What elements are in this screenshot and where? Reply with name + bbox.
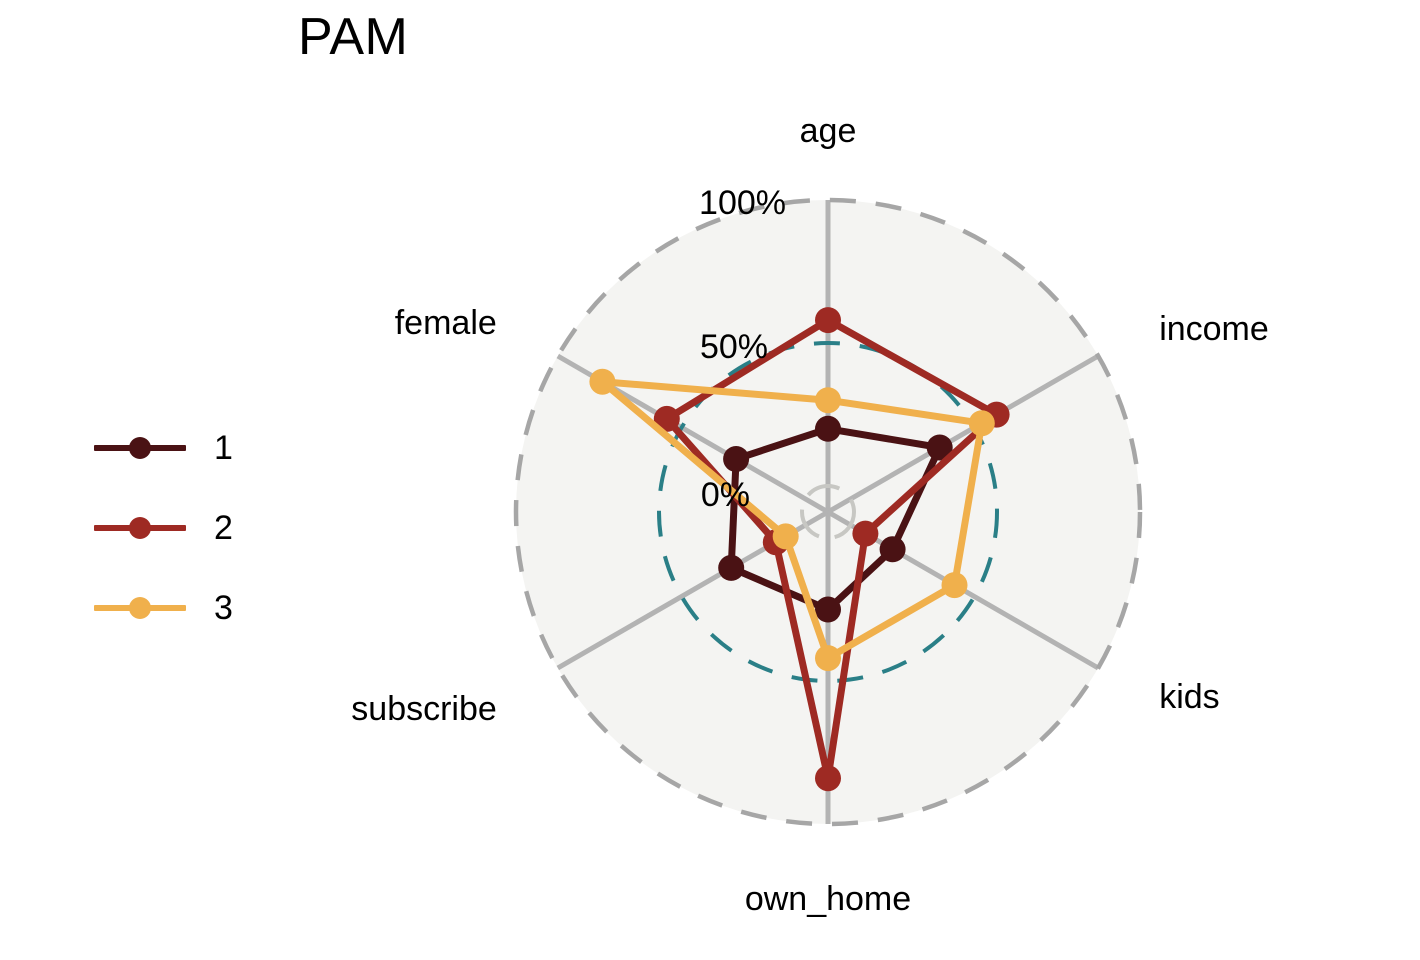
legend: 123 bbox=[92, 408, 272, 648]
data-point-1-own_home bbox=[815, 597, 841, 623]
data-point-2-own_home bbox=[815, 765, 841, 791]
axis-label-income: income bbox=[1159, 310, 1269, 348]
data-point-2-kids bbox=[852, 521, 878, 547]
legend-dot-icon bbox=[129, 437, 151, 459]
data-point-3-own_home bbox=[815, 645, 841, 671]
data-point-3-female bbox=[589, 369, 615, 395]
legend-item-2[interactable]: 2 bbox=[92, 488, 272, 568]
legend-dot-icon bbox=[129, 517, 151, 539]
data-point-1-kids bbox=[880, 536, 906, 562]
legend-key-3 bbox=[92, 588, 188, 628]
radial-tick-label-0: 0% bbox=[701, 476, 750, 514]
data-point-1-subscribe bbox=[718, 555, 744, 581]
data-point-3-kids bbox=[942, 572, 968, 598]
radial-tick-label-100: 100% bbox=[699, 184, 786, 222]
data-point-3-subscribe bbox=[773, 523, 799, 549]
legend-dot-icon bbox=[129, 597, 151, 619]
legend-label: 2 bbox=[188, 511, 233, 545]
data-point-3-income bbox=[969, 410, 995, 436]
legend-label: 1 bbox=[188, 431, 233, 465]
data-point-1-female bbox=[723, 446, 749, 472]
data-point-1-age bbox=[815, 416, 841, 442]
axis-label-own_home: own_home bbox=[745, 880, 911, 918]
data-point-3-age bbox=[815, 387, 841, 413]
axis-label-kids: kids bbox=[1159, 678, 1219, 716]
radial-tick-label-50: 50% bbox=[700, 328, 768, 366]
axis-label-female: female bbox=[395, 304, 497, 342]
legend-item-1[interactable]: 1 bbox=[92, 408, 272, 488]
axis-label-age: age bbox=[800, 112, 857, 150]
legend-item-3[interactable]: 3 bbox=[92, 568, 272, 648]
radar-chart-figure: PAM ageincomekidsown_homesubscribefemale… bbox=[0, 0, 1420, 960]
data-point-2-age bbox=[815, 307, 841, 333]
legend-key-2 bbox=[92, 508, 188, 548]
legend-label: 3 bbox=[188, 591, 233, 625]
axis-label-subscribe: subscribe bbox=[351, 690, 497, 728]
legend-key-1 bbox=[92, 428, 188, 468]
